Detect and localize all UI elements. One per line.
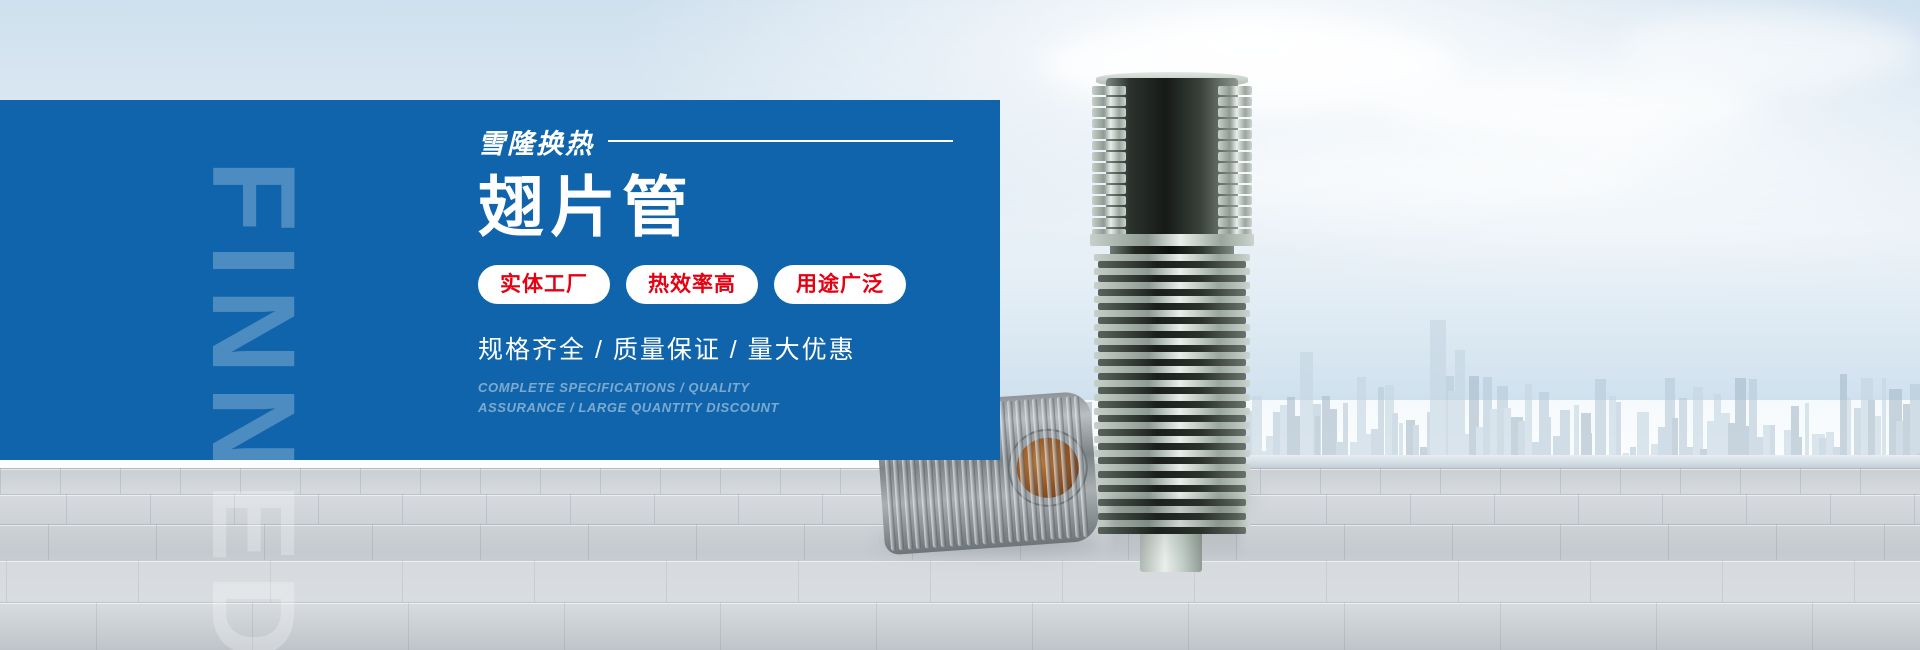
cooling-fin bbox=[1092, 130, 1126, 139]
page-title: 翅片管 bbox=[478, 172, 978, 243]
tile-seam-vertical bbox=[1500, 468, 1501, 494]
cooling-fin bbox=[1218, 141, 1252, 150]
cooling-fin bbox=[1218, 130, 1252, 139]
spiral-fin-gap bbox=[1098, 331, 1246, 338]
spiral-fin-gap bbox=[1098, 261, 1246, 268]
tile-seam-vertical bbox=[738, 494, 739, 524]
tile-seam-vertical bbox=[840, 468, 841, 494]
brand-name: 雪隆换热 bbox=[478, 122, 594, 161]
building-silhouette bbox=[1840, 374, 1847, 462]
cloud-shape bbox=[1620, 10, 1920, 90]
tile-seam-vertical bbox=[1452, 524, 1453, 560]
spiral-fin-gap bbox=[1098, 345, 1246, 352]
spiral-fin bbox=[1094, 422, 1250, 429]
tile-seam-vertical bbox=[1410, 494, 1411, 524]
spiral-fin bbox=[1094, 352, 1250, 359]
cooling-fin bbox=[1218, 86, 1252, 95]
tile-seam-vertical bbox=[486, 494, 487, 524]
spiral-fin bbox=[1094, 366, 1250, 373]
tile-seam-vertical bbox=[1578, 494, 1579, 524]
spiral-fin bbox=[1094, 450, 1250, 457]
tile-seam-vertical bbox=[1440, 468, 1441, 494]
spiral-fin bbox=[1094, 310, 1250, 317]
cooling-fin bbox=[1218, 163, 1252, 172]
subtitle-english: COMPLETE SPECIFICATIONS / QUALITY ASSURA… bbox=[478, 378, 808, 417]
cooling-fin bbox=[1218, 119, 1252, 128]
tile-seam-vertical bbox=[1800, 468, 1801, 494]
tile-seam-vertical bbox=[1662, 494, 1663, 524]
cooling-fin bbox=[1092, 97, 1126, 106]
cooling-fin bbox=[1092, 86, 1126, 95]
building-silhouette bbox=[1378, 387, 1384, 465]
brand-divider-rule bbox=[608, 140, 953, 142]
feature-badge-list: 实体工厂热效率高用途广泛 bbox=[478, 265, 978, 304]
tile-seam-vertical bbox=[48, 524, 49, 560]
tile-seam-vertical bbox=[1560, 524, 1561, 560]
tile-seam-vertical bbox=[402, 494, 403, 524]
tile-seam-vertical bbox=[780, 468, 781, 494]
spiral-fin-gap bbox=[1098, 373, 1246, 380]
spiral-fin-gap bbox=[1098, 457, 1246, 464]
building-silhouette bbox=[1882, 378, 1886, 466]
subtitle-chinese: 规格齐全 / 质量保证 / 量大优惠 bbox=[478, 330, 978, 366]
tile-seam-vertical bbox=[660, 468, 661, 494]
tile-seam-vertical bbox=[600, 468, 601, 494]
tile-seam-vertical bbox=[60, 468, 61, 494]
tile-seam-vertical bbox=[180, 468, 181, 494]
landmark-tower bbox=[1430, 320, 1446, 470]
banner-stage: FINNED 雪隆换热 翅片管 实体工厂热效率高用途广泛 规格齐全 / 质量保证… bbox=[0, 0, 1920, 650]
landmark-tower bbox=[1300, 352, 1313, 470]
tile-seam-vertical bbox=[1260, 468, 1261, 494]
cooling-fin bbox=[1218, 196, 1252, 205]
spiral-fin-gap bbox=[1098, 429, 1246, 436]
tile-seam-vertical bbox=[822, 494, 823, 524]
brand-line: 雪隆换热 bbox=[478, 124, 978, 158]
spiral-fin-gap bbox=[1098, 275, 1246, 282]
building-silhouette bbox=[1910, 384, 1920, 463]
cooling-fin bbox=[1218, 97, 1252, 106]
tile-seam-vertical bbox=[720, 468, 721, 494]
spiral-fin bbox=[1094, 436, 1250, 443]
cooling-fin bbox=[1092, 207, 1126, 216]
cooling-fin bbox=[1218, 185, 1252, 194]
building-silhouette bbox=[1714, 394, 1721, 464]
tile-seam-vertical bbox=[120, 468, 121, 494]
tile-seam-vertical bbox=[1830, 494, 1831, 524]
tile-seam-vertical bbox=[1884, 524, 1885, 560]
feature-badge[interactable]: 实体工厂 bbox=[478, 265, 610, 304]
cooling-fin bbox=[1092, 108, 1126, 117]
tile-seam-vertical bbox=[1776, 524, 1777, 560]
spiral-fin-gap bbox=[1098, 471, 1246, 478]
cooling-fin bbox=[1092, 152, 1126, 161]
tile-seam-vertical bbox=[360, 468, 361, 494]
tile-seam-vertical bbox=[804, 524, 805, 560]
cooling-fin bbox=[1092, 174, 1126, 183]
product-reflection bbox=[1110, 500, 1240, 560]
cooling-fin bbox=[1218, 108, 1252, 117]
cooling-fin bbox=[1092, 196, 1126, 205]
spiral-fin bbox=[1094, 324, 1250, 331]
cooling-fin bbox=[1092, 218, 1126, 227]
tile-seam-vertical bbox=[1380, 468, 1381, 494]
tube-flange bbox=[1090, 234, 1254, 246]
spiral-fin-gap bbox=[1098, 415, 1246, 422]
tile-seam-vertical bbox=[1740, 468, 1741, 494]
tile-seam-vertical bbox=[588, 524, 589, 560]
spiral-fin bbox=[1094, 478, 1250, 485]
finned-tube-vertical bbox=[1092, 78, 1252, 498]
marketing-copy-block: 雪隆换热 翅片管 实体工厂热效率高用途广泛 规格齐全 / 质量保证 / 量大优惠… bbox=[478, 124, 978, 417]
spiral-fin bbox=[1094, 268, 1250, 275]
ghost-watermark-text: FINNED bbox=[194, 160, 312, 650]
tile-seam-vertical bbox=[540, 468, 541, 494]
tile-seam-vertical bbox=[1860, 468, 1861, 494]
cooling-fin bbox=[1218, 207, 1252, 216]
spiral-fin bbox=[1094, 380, 1250, 387]
tile-seam-vertical bbox=[420, 468, 421, 494]
spiral-fin-gap bbox=[1098, 303, 1246, 310]
cooling-fin bbox=[1092, 141, 1126, 150]
spiral-fin bbox=[1094, 254, 1250, 261]
tile-seam-vertical bbox=[696, 524, 697, 560]
tile-seam-vertical bbox=[1494, 494, 1495, 524]
spiral-fin bbox=[1094, 464, 1250, 471]
tile-seam-vertical bbox=[1914, 494, 1915, 524]
spiral-fin bbox=[1094, 338, 1250, 345]
tile-seam-vertical bbox=[480, 524, 481, 560]
building-silhouette bbox=[1875, 416, 1881, 459]
tile-seam-vertical bbox=[1344, 524, 1345, 560]
tile-seam-vertical bbox=[1326, 494, 1327, 524]
cooling-fin bbox=[1092, 119, 1126, 128]
cooling-fin bbox=[1218, 152, 1252, 161]
tile-seam-vertical bbox=[0, 468, 1, 494]
landmark-tower bbox=[1455, 350, 1465, 470]
cooling-fin bbox=[1092, 185, 1126, 194]
cooling-fin bbox=[1218, 174, 1252, 183]
spiral-fin-gap bbox=[1098, 387, 1246, 394]
tile-seam-vertical bbox=[66, 494, 67, 524]
spiral-fin bbox=[1094, 408, 1250, 415]
building-silhouette bbox=[1595, 379, 1606, 459]
tile-seam-vertical bbox=[1668, 524, 1669, 560]
spiral-fin bbox=[1094, 282, 1250, 289]
feature-badge[interactable]: 热效率高 bbox=[626, 265, 758, 304]
spiral-fin-gap bbox=[1098, 443, 1246, 450]
tile-seam-vertical bbox=[1680, 468, 1681, 494]
spiral-fin bbox=[1094, 492, 1250, 499]
feature-badge[interactable]: 用途广泛 bbox=[774, 265, 906, 304]
building-silhouette bbox=[1616, 402, 1621, 462]
spiral-fin bbox=[1094, 296, 1250, 303]
spiral-fin-gap bbox=[1098, 317, 1246, 324]
spiral-fin-gap bbox=[1098, 359, 1246, 366]
building-silhouette bbox=[1903, 404, 1910, 461]
tile-seam-vertical bbox=[654, 494, 655, 524]
tile-seam-vertical bbox=[480, 468, 481, 494]
spiral-fin bbox=[1094, 394, 1250, 401]
tile-seam-vertical bbox=[1746, 494, 1747, 524]
spiral-fin-gap bbox=[1098, 289, 1246, 296]
tile-seam-vertical bbox=[156, 524, 157, 560]
tile-seam-vertical bbox=[150, 494, 151, 524]
spiral-fin-gap bbox=[1098, 485, 1246, 492]
cooling-fin bbox=[1218, 218, 1252, 227]
tile-seam-vertical bbox=[372, 524, 373, 560]
tile-seam-vertical bbox=[1620, 468, 1621, 494]
tile-seam-vertical bbox=[1560, 468, 1561, 494]
tile-seam-vertical bbox=[1320, 468, 1321, 494]
tile-seam-vertical bbox=[570, 494, 571, 524]
spiral-fin-gap bbox=[1098, 401, 1246, 408]
cooling-fin bbox=[1092, 163, 1126, 172]
